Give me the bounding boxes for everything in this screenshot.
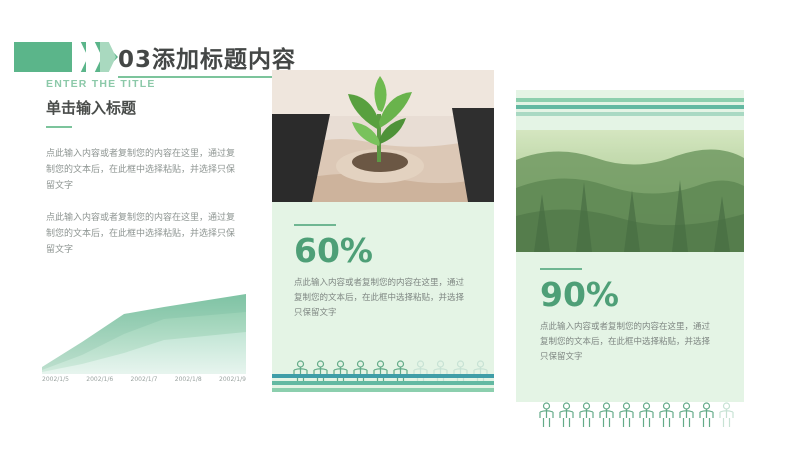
person-icon	[538, 402, 555, 433]
person-icon	[578, 402, 595, 433]
page-title: 03添加标题内容	[118, 40, 296, 74]
slide-header: 03添加标题内容	[0, 18, 800, 62]
person-icon	[558, 402, 575, 433]
stat-divider	[294, 224, 336, 226]
person-icon	[678, 402, 695, 433]
person-icon	[618, 402, 635, 433]
stripe	[516, 98, 744, 102]
stripe-group-right	[516, 90, 744, 119]
stat-block-middle: 60% 点此输入内容或者复制您的内容在这里，通过复制您的文本后，在此框中选择粘贴…	[294, 224, 472, 321]
x-tick-4: 2002/1/9	[219, 376, 246, 383]
stripe	[272, 381, 494, 385]
stat-card-middle: 60% 点此输入内容或者复制您的内容在这里，通过复制您的文本后，在此框中选择粘贴…	[272, 70, 494, 392]
section-subtitle: 单击输入标题	[46, 97, 242, 118]
left-text-column: ENTER THE TITLE 单击输入标题 点此输入内容或者复制您的内容在这里…	[46, 78, 242, 258]
stat-divider	[540, 268, 582, 270]
area-chart-svg	[42, 290, 246, 374]
stat-block-right: 90% 点此输入内容或者复制您的内容在这里，通过复制您的文本后，在此框中选择粘贴…	[540, 268, 718, 365]
hands-holding-seedling-photo	[272, 70, 494, 202]
stat-percent: 90%	[540, 278, 718, 311]
stripe-group-middle	[272, 374, 494, 392]
stripe	[272, 374, 494, 378]
chart-x-tick-labels: 2002/1/5 2002/1/6 2002/1/7 2002/1/8 2002…	[42, 376, 246, 383]
stat-card-right: 90% 点此输入内容或者复制您的内容在这里，通过复制您的文本后，在此框中选择粘贴…	[516, 90, 744, 402]
people-icon-row-right	[538, 402, 735, 433]
stripe	[272, 388, 494, 392]
x-tick-0: 2002/1/5	[42, 376, 69, 383]
area-chart: 2002/1/5 2002/1/6 2002/1/7 2002/1/8 2002…	[42, 290, 246, 390]
person-icon	[638, 402, 655, 433]
subtitle-underline	[46, 126, 72, 128]
stat-description: 点此输入内容或者复制您的内容在这里，通过复制您的文本后，在此框中选择粘贴，并选择…	[294, 276, 472, 321]
body-paragraph-2: 点此输入内容或者复制您的内容在这里，通过复制您的文本后，在此框中选择粘贴，并选择…	[46, 210, 242, 258]
x-tick-1: 2002/1/6	[86, 376, 113, 383]
green-forest-photo	[516, 130, 744, 252]
person-icon	[718, 402, 735, 433]
stat-description: 点此输入内容或者复制您的内容在这里，通过复制您的文本后，在此框中选择粘贴，并选择…	[540, 320, 718, 365]
stat-percent: 60%	[294, 234, 472, 267]
x-tick-2: 2002/1/7	[131, 376, 158, 383]
person-icon	[658, 402, 675, 433]
stripe	[516, 112, 744, 116]
person-icon	[598, 402, 615, 433]
body-paragraph-1: 点此输入内容或者复制您的内容在这里，通过复制您的文本后，在此框中选择粘贴，并选择…	[46, 146, 242, 194]
stripe	[516, 105, 744, 109]
person-icon	[698, 402, 715, 433]
chevron-icon	[100, 42, 116, 72]
eyebrow-label: ENTER THE TITLE	[46, 78, 242, 90]
x-tick-3: 2002/1/8	[175, 376, 202, 383]
